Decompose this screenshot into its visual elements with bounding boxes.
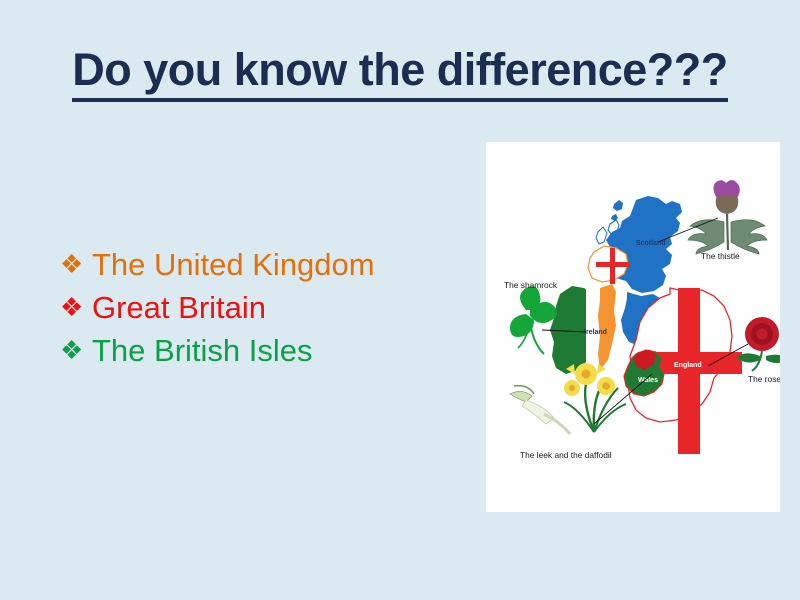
caption-leek-daffodil: The leek and the daffodil [520, 450, 612, 460]
diamond-bullet-icon: ❖ [60, 329, 92, 372]
diamond-bullet-icon: ❖ [60, 286, 92, 329]
list-item-label: The British Isles [92, 329, 313, 372]
caption-shamrock: The shamrock [504, 280, 558, 290]
slide: Do you know the difference??? ❖ The Unit… [0, 0, 800, 600]
page-title-text: Do you know the difference??? [72, 44, 728, 102]
list-item-label: The United Kingdom [92, 243, 375, 286]
list-item: ❖ Great Britain [60, 286, 460, 329]
map-label-england: England [674, 362, 702, 369]
british-isles-emblem-image: Scotland England Wales [486, 142, 780, 512]
british-isles-map-graphic: Scotland England Wales [486, 142, 780, 512]
diamond-bullet-icon: ❖ [60, 243, 92, 286]
page-title: Do you know the difference??? [40, 44, 760, 102]
bullet-list: ❖ The United Kingdom ❖ Great Britain ❖ T… [60, 243, 460, 372]
caption-rose: The rose [748, 374, 780, 384]
map-label-ireland: Ireland [584, 329, 607, 336]
list-item: ❖ The United Kingdom [60, 243, 460, 286]
list-item-label: Great Britain [92, 286, 266, 329]
list-item: ❖ The British Isles [60, 329, 460, 372]
caption-thistle: The thistle [701, 251, 740, 261]
